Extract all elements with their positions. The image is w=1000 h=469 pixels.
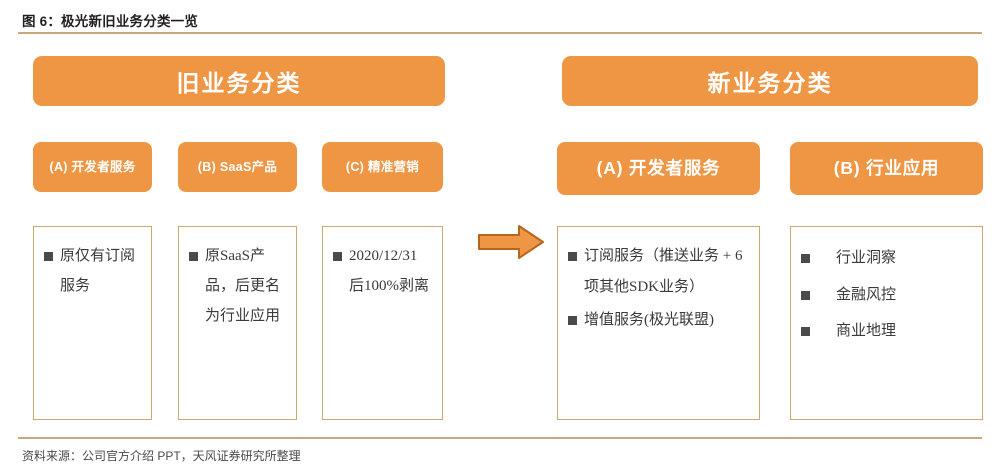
- list-item: 2020/12/31后100%剥离: [333, 241, 432, 301]
- sub-header-new-developer-services: (A) 开发者服务: [557, 142, 760, 195]
- list-item-label: 行业洞察: [836, 241, 972, 276]
- list-item-label: 2020/12/31后100%剥离: [349, 241, 432, 301]
- list-item-label: 金融风控: [836, 278, 972, 313]
- list-item-label: 原SaaS产品，后更名为行业应用: [205, 241, 286, 331]
- sub-header-old-precision-marketing: (C) 精准营销: [322, 142, 443, 192]
- source-note: 资料来源：公司官方介绍 PPT，天风证券研究所整理: [22, 447, 301, 464]
- list-item: 原SaaS产品，后更名为行业应用: [189, 241, 286, 331]
- list-item-label: 原仅有订阅服务: [60, 241, 141, 301]
- square-bullet-icon: [801, 291, 810, 300]
- panel-header-old-business: 旧业务分类: [33, 56, 445, 106]
- list-item: 订阅服务（推送业务 + 6项其他SDK业务）: [568, 241, 749, 303]
- list-item-label: 增值服务(极光联盟): [584, 305, 749, 336]
- content-box-new-developer-services: 订阅服务（推送业务 + 6项其他SDK业务） 增值服务(极光联盟): [557, 226, 760, 420]
- list-item-label: 订阅服务（推送业务 + 6项其他SDK业务）: [584, 241, 749, 303]
- sub-header-new-industry-applications: (B) 行业应用: [790, 142, 983, 195]
- square-bullet-icon: [801, 254, 810, 263]
- list-item: 金融风控: [801, 278, 972, 313]
- square-bullet-icon: [44, 252, 53, 261]
- square-bullet-icon: [568, 316, 577, 325]
- list-item: 原仅有订阅服务: [44, 241, 141, 301]
- square-bullet-icon: [568, 252, 577, 261]
- title-divider: [18, 32, 982, 34]
- sub-header-old-developer-services: (A) 开发者服务: [33, 142, 152, 192]
- content-box-old-precision-marketing: 2020/12/31后100%剥离: [322, 226, 443, 420]
- sub-header-old-saas-products: (B) SaaS产品: [178, 142, 297, 192]
- square-bullet-icon: [189, 252, 198, 261]
- content-box-new-industry-applications: 行业洞察 金融风控 商业地理: [790, 226, 983, 420]
- list-item: 商业地理: [801, 314, 972, 349]
- content-box-old-developer-services: 原仅有订阅服务: [33, 226, 152, 420]
- list-item-label: 商业地理: [836, 314, 972, 349]
- list-item: 行业洞察: [801, 241, 972, 276]
- square-bullet-icon: [801, 327, 810, 336]
- footer-divider: [18, 437, 982, 439]
- square-bullet-icon: [333, 252, 342, 261]
- panel-header-new-business: 新业务分类: [562, 56, 978, 106]
- content-box-old-saas-products: 原SaaS产品，后更名为行业应用: [178, 226, 297, 420]
- list-item: 增值服务(极光联盟): [568, 305, 749, 336]
- arrow-right-icon: [477, 223, 545, 261]
- page-title: 图 6：极光新旧业务分类一览: [22, 10, 198, 30]
